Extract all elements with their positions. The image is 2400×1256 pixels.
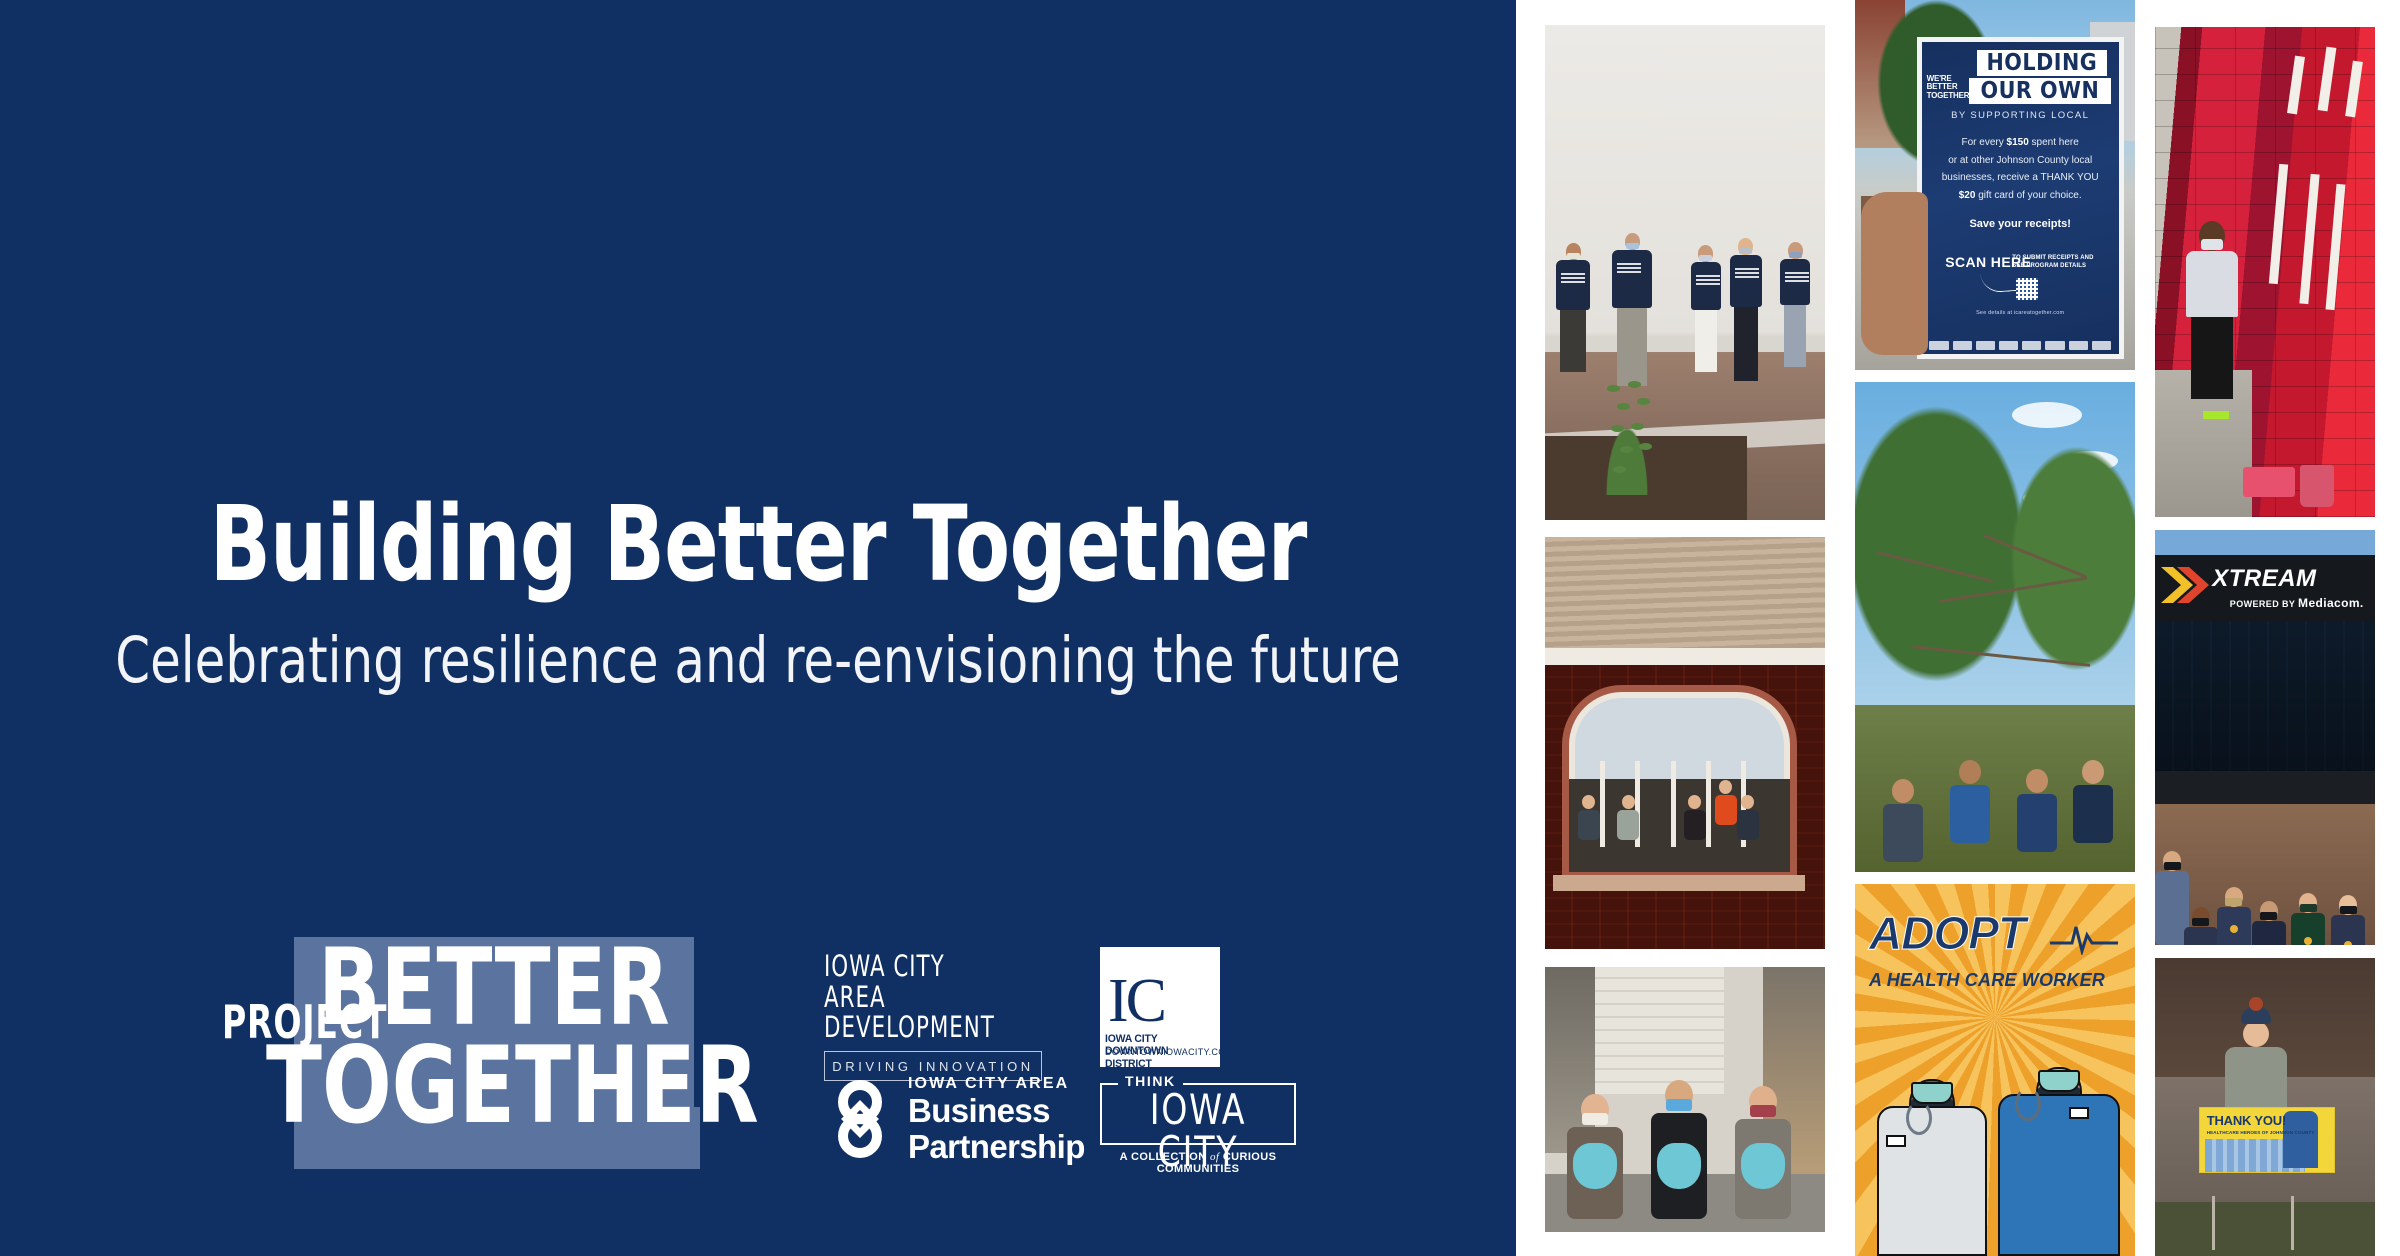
pbt-word-better: BETTER [318,939,670,1037]
bp-eyebrow: IOWA CITY AREA [908,1075,1085,1093]
adopt-poster-subtitle: A HEALTH CARE WORKER [1869,970,2105,991]
qr-code-icon [2016,278,2038,300]
photo-family-window: Family of five posed in the open arched … [1545,537,1825,949]
holding-our-own-sign: WE'RE BETTER TOGETHER HOLDING OUR OWN BY… [1917,37,2124,359]
icad-line-1: IOWA CITY [824,951,1021,982]
poster-amount-150: $150 [2007,137,2029,148]
poster-body-2: or at other Johnson County local [1948,155,2092,166]
thank-you-sign: THANK YOU! HEALTHCARE HEROES OF JOHNSON … [2199,1107,2335,1173]
poster-scan-sublabel: TO SUBMIT RECEIPTS AND SEE PROGRAM DETAI… [2012,255,2103,270]
poster-sponsor-logos [1929,340,2110,351]
poster-body-3: businesses, receive a THANK YOU [1942,172,2099,183]
poster-body-4-post: gift card of your choice. [1975,190,2081,201]
photo-xtream-mediacom: XTREAM POWERED BY Mediacom. Masked group… [2155,530,2375,945]
photo-holding-our-own-poster: WE'RE BETTER TOGETHER HOLDING OUR OWN BY… [1855,0,2135,370]
page-title: Building Better Together [106,492,1410,596]
ic-downtown-district-logo: IC IOWA CITY DOWNTOWN DISTRICT DOWNTOWNI… [1100,947,1220,1067]
poster-amount-20: $20 [1959,190,1976,201]
photo-volunteers-bags: Three masked volunteers holding teal sup… [1545,967,1825,1232]
poster-eyebrow: WE'RE BETTER TOGETHER [1927,75,1973,100]
think-iowa-city-tagline: A COLLECTION of CURIOUS COMMUNITIES [1100,1151,1296,1175]
poster-headline-1: HOLDING [1977,50,2107,76]
mediacom-wordmark: Mediacom. [2298,596,2364,610]
bp-line-1: Business [908,1093,1085,1129]
xtream-chevron-icon [2159,563,2211,607]
icad-tagline: DRIVING INNOVATION [832,1059,1034,1074]
tic-tagline-pre: A COLLECTION [1120,1151,1210,1163]
project-better-together-logo: PROJECT BETTER TOGETHER [222,925,782,1170]
icad-line-2: AREA DEVELOPMENT [824,982,1021,1043]
photo-adopt-health-care-worker: ADOPT A HEALTH CARE WORKER Illust [1855,884,2135,1256]
heartbeat-icon [2050,921,2118,955]
curved-arrow-icon [1980,271,2021,294]
interlocking-links-icon [824,1079,896,1159]
poster-emphasis: Save your receipts! [1922,218,2119,230]
headline-block: Building Better Together Celebrating res… [0,492,1516,695]
poster-body-1-pre: For every [1962,137,2007,148]
photo-thank-you-yard-sign: THANK YOU! HEALTHCARE HEROES OF JOHNSON … [2155,958,2375,1256]
poster-headline-2: OUR OWN [1969,78,2111,104]
adopt-poster-title: ADOPT [1869,906,2025,960]
page-subtitle: Celebrating resilience and re-envisionin… [91,626,1425,695]
pbt-word-together: TOGETHER [266,1037,759,1135]
partner-logo-row: PROJECT BETTER TOGETHER IOWA CITY AREA D… [222,925,1322,1185]
tic-tagline-of: of [1210,1151,1219,1163]
xtream-wordmark: XTREAM [2212,565,2316,593]
poster-body-1-post: spent here [2029,137,2079,148]
iowa-city-area-business-partnership-logo: IOWA CITY AREA Business Partnership [824,1075,1124,1165]
iowa-city-area-development-logo: IOWA CITY AREA DEVELOPMENT DRIVING INNOV… [824,951,1064,1081]
thank-you-subline: HEALTHCARE HEROES OF JOHNSON COUNTY [2207,1130,2315,1135]
ic-downtown-district-url: DOWNTOWNIOWACITY.COM [1105,1047,1217,1057]
thank-you-headline: THANK YOU! [2207,1113,2286,1128]
hero-panel: Building Better Together Celebrating res… [0,0,1516,1256]
xtream-powered-by: POWERED BY Mediacom. [2230,596,2364,610]
think-iowa-city-logo: THINK IOWA CITY A COLLECTION of CURIOUS … [1100,1077,1300,1169]
poster-footer-url: See details at icareatogether.com [1922,310,2119,316]
business-partnership-wordmark: IOWA CITY AREA Business Partnership [908,1075,1085,1164]
poster-body: For every $150 spent here or at other Jo… [1933,134,2107,204]
poster-subhead: BY SUPPORTING LOCAL [1922,110,2119,121]
bp-line-2: Partnership [908,1129,1085,1165]
photo-collage: Group of people in Better Together t-shi… [1516,0,2400,1256]
powered-by-label: POWERED BY [2230,599,2298,609]
photo-team-group: Group of people in Better Together t-shi… [1545,25,1825,520]
ic-monogram: IC [1108,971,1212,1031]
photo-mural-painting: Artist in a face mask painting a red bri… [2155,27,2375,517]
photo-storm-cleanup: Volunteers with chainsaws clearing downe… [1855,382,2135,872]
